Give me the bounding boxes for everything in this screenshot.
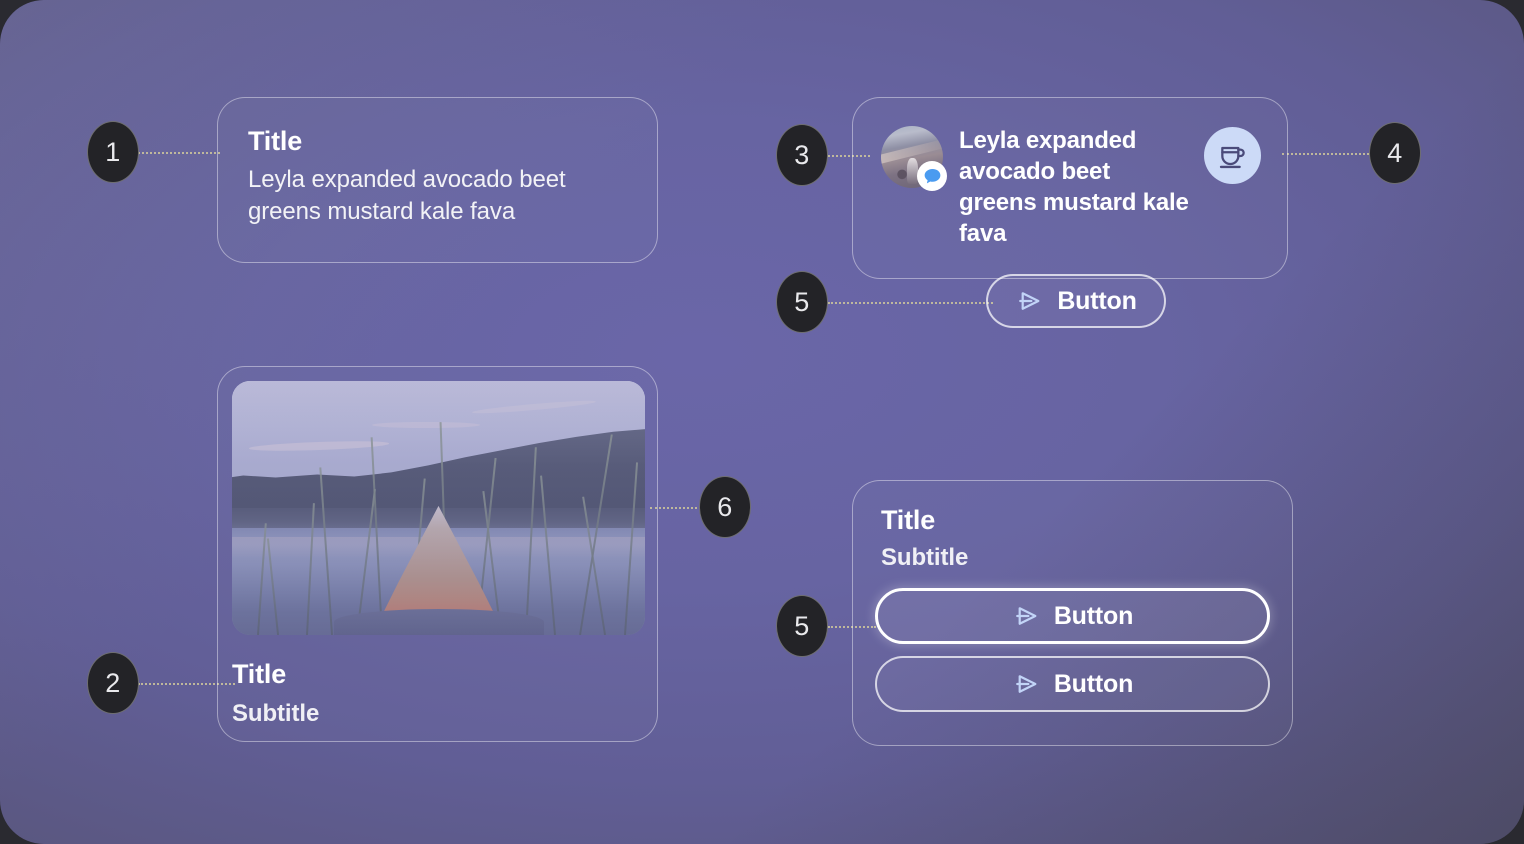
photo-shoreline <box>232 508 645 531</box>
photo-reed <box>525 447 537 635</box>
photo-reed <box>319 468 333 635</box>
annotation-badge-6[interactable]: 6 <box>699 476 751 538</box>
card-media-title: Title <box>232 659 643 690</box>
photo-reed <box>540 476 556 635</box>
annotation-badge-3[interactable]: 3 <box>776 124 828 186</box>
btn-action-secondary-label: Button <box>1054 670 1133 699</box>
photo-reed <box>582 497 606 635</box>
leader-line-4 <box>1282 153 1369 155</box>
annotation-board: 1 2 3 4 5 5 6 Title Leyla expanded avoca… <box>0 0 1524 844</box>
card-actions[interactable]: Title Subtitle Button Button <box>852 480 1293 746</box>
chat-bubble-icon <box>922 166 943 187</box>
message-text: Leyla expanded avocado beet greens musta… <box>959 124 1189 250</box>
photo-reed <box>624 463 638 635</box>
send-icon <box>1015 287 1043 315</box>
photo-cloud <box>248 440 389 453</box>
photo-sky <box>232 381 645 493</box>
btn-message[interactable]: Button <box>986 274 1166 328</box>
photo-cloud <box>372 422 479 428</box>
photo-reed <box>257 523 267 635</box>
annotation-badge-5-message[interactable]: 5 <box>776 271 828 333</box>
photo-reed <box>579 434 613 635</box>
card-media[interactable]: Title Subtitle <box>217 366 658 742</box>
photo-forest-ridge <box>232 427 645 529</box>
annotation-badge-4[interactable]: 4 <box>1369 122 1421 184</box>
photo-reed <box>439 422 448 635</box>
avatar[interactable] <box>881 126 943 188</box>
card-media-image[interactable] <box>232 381 645 635</box>
coffee-chip[interactable] <box>1204 127 1261 184</box>
photo-reed <box>476 458 497 635</box>
photo-reed <box>306 503 315 635</box>
card-actions-subtitle: Subtitle <box>875 544 1270 572</box>
photo-reed <box>356 489 376 635</box>
leader-line-5a <box>828 302 993 304</box>
leader-line-6 <box>650 507 705 509</box>
photo-reed <box>267 539 279 635</box>
card-actions-title: Title <box>875 505 1270 536</box>
card-message[interactable]: Leyla expanded avocado beet greens musta… <box>852 97 1288 279</box>
annotation-badge-5-actions[interactable]: 5 <box>776 595 828 657</box>
card-body-text: Leyla expanded avocado beet greens musta… <box>248 164 627 228</box>
photo-canoe-bow <box>355 506 523 630</box>
photo-reed <box>483 491 503 635</box>
photo-canoe-deck <box>334 609 544 635</box>
card-title-body[interactable]: Title Leyla expanded avocado beet greens… <box>217 97 658 263</box>
chat-bubble-badge <box>917 161 947 191</box>
btn-action-primary[interactable]: Button <box>875 588 1270 644</box>
coffee-cup-icon <box>1217 140 1249 172</box>
annotation-badge-2[interactable]: 2 <box>87 652 139 714</box>
card-media-subtitle: Subtitle <box>232 700 643 728</box>
annotation-badge-1[interactable]: 1 <box>87 121 139 183</box>
send-icon <box>1012 670 1040 698</box>
card-actions-list: Button Button <box>875 588 1270 712</box>
btn-message-label: Button <box>1057 287 1136 316</box>
photo-reed <box>370 437 382 635</box>
send-icon <box>1012 602 1040 630</box>
leader-line-1 <box>138 152 220 154</box>
card-title: Title <box>248 126 627 158</box>
photo-water <box>232 528 645 635</box>
btn-action-primary-label: Button <box>1054 602 1133 631</box>
btn-action-secondary[interactable]: Button <box>875 656 1270 712</box>
photo-cloud <box>472 398 596 414</box>
photo-reed <box>410 478 426 635</box>
